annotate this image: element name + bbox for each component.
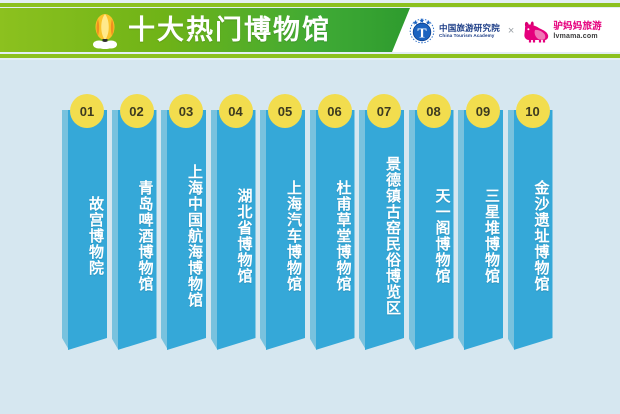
cta-emblem-icon: T bbox=[408, 17, 436, 45]
rank-badge: 04 bbox=[219, 94, 253, 128]
rank-badge: 10 bbox=[516, 94, 550, 128]
donkey-icon bbox=[522, 19, 550, 43]
museum-ranking-chart: 01故宫博物院02青岛啤酒博物馆03上海中国航海博物馆04湖北省博物馆05上海汽… bbox=[0, 60, 620, 414]
ranking-bar-shadow bbox=[310, 110, 317, 350]
ranking-bar-shadow bbox=[260, 110, 267, 350]
page-header: 十大热门博物馆 T 中国旅游研究院 China Tourism Academ bbox=[0, 0, 620, 60]
header-top-rule bbox=[0, 3, 620, 7]
rank-badge: 03 bbox=[169, 94, 203, 128]
museum-name-label: 景德镇古窑民俗博览区 bbox=[367, 136, 401, 336]
logo-separator-icon: × bbox=[506, 25, 516, 37]
rank-badge: 08 bbox=[417, 94, 451, 128]
cta-logo-text: 中国旅游研究院 China Tourism Academy bbox=[439, 24, 500, 39]
rank-badge: 07 bbox=[367, 94, 401, 128]
museum-name-label: 湖北省博物馆 bbox=[219, 136, 253, 336]
svg-text:T: T bbox=[417, 27, 427, 42]
china-tourism-academy-logo: T 中国旅游研究院 China Tourism Academy bbox=[408, 17, 500, 45]
ranking-bar-shadow bbox=[508, 110, 515, 350]
museum-name-label: 金沙遗址博物馆 bbox=[516, 136, 550, 336]
cta-name-cn: 中国旅游研究院 bbox=[439, 24, 500, 33]
rank-badge: 01 bbox=[70, 94, 104, 128]
museum-name-label: 故宫博物院 bbox=[70, 136, 104, 336]
ranking-bar-shadow bbox=[458, 110, 465, 350]
lvmama-logo: 驴妈妈旅游 lvmama.com bbox=[522, 19, 602, 43]
museum-name-label: 三星堆博物馆 bbox=[466, 136, 500, 336]
rank-badge: 02 bbox=[120, 94, 154, 128]
header-bottom-rule bbox=[0, 54, 620, 58]
museum-name-label: 青岛啤酒博物馆 bbox=[120, 136, 154, 336]
rank-badge: 09 bbox=[466, 94, 500, 128]
museum-name-label: 上海汽车博物馆 bbox=[268, 136, 302, 336]
museum-name-label: 天一阁博物馆 bbox=[417, 136, 451, 336]
hot-air-balloon-icon bbox=[88, 13, 122, 49]
cta-name-en: China Tourism Academy bbox=[439, 34, 500, 39]
rank-badge: 05 bbox=[268, 94, 302, 128]
ranking-bar-shadow bbox=[409, 110, 416, 350]
lvmama-name-cn: 驴妈妈旅游 bbox=[553, 22, 602, 32]
lvmama-name-en: lvmama.com bbox=[553, 33, 602, 40]
museum-name-label: 上海中国航海博物馆 bbox=[169, 136, 203, 336]
ranking-bar-shadow bbox=[161, 110, 168, 350]
ranking-bar-shadow bbox=[211, 110, 218, 350]
museum-name-label: 杜甫草堂博物馆 bbox=[318, 136, 352, 336]
rank-badge: 06 bbox=[318, 94, 352, 128]
partner-logos: T 中国旅游研究院 China Tourism Academy × bbox=[408, 14, 602, 48]
page-title: 十大热门博物馆 bbox=[128, 12, 331, 48]
ranking-bar-shadow bbox=[359, 110, 366, 350]
ranking-bar-shadow bbox=[112, 110, 119, 350]
ranking-bar-shadow bbox=[62, 110, 69, 350]
lvmama-logo-text: 驴妈妈旅游 lvmama.com bbox=[553, 22, 602, 40]
